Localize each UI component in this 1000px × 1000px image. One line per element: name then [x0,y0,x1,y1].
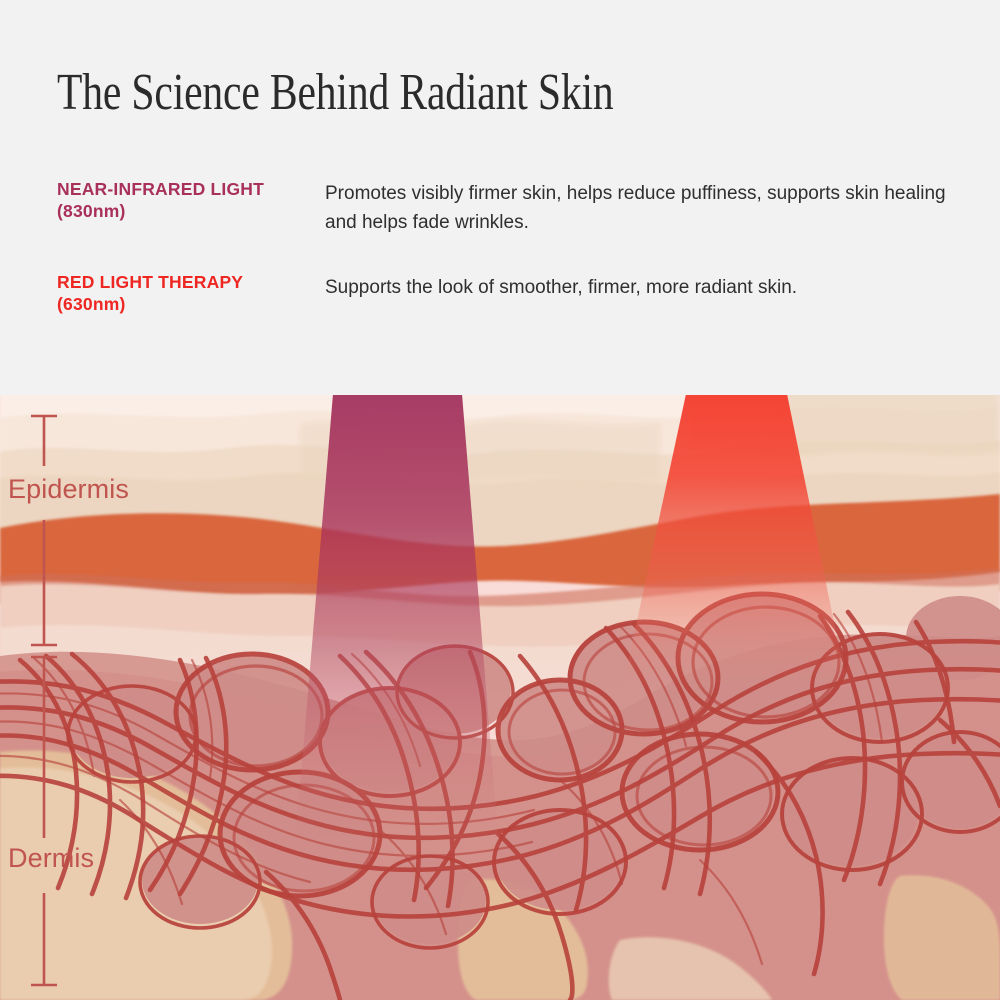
legend-term-near-infrared: NEAR-INFRARED LIGHT (830nm) [57,178,307,222]
legend-term-red-light: RED LIGHT THERAPY (630nm) [57,271,307,315]
page-title: The Science Behind Radiant Skin [57,62,614,124]
legend-item-red-light: RED LIGHT THERAPY (630nm) Supports the l… [57,271,957,302]
infographic-page: Epidermis Dermis The Science Behind Radi… [0,0,1000,1000]
layer-label-dermis: Dermis [8,843,94,874]
legend-item-near-infrared: NEAR-INFRARED LIGHT (830nm) Promotes vis… [57,178,957,237]
legend-description-red-light: Supports the look of smoother, firmer, m… [325,271,957,302]
legend-list: NEAR-INFRARED LIGHT (830nm) Promotes vis… [57,178,957,324]
layer-label-epidermis: Epidermis [8,474,129,505]
skin-cross-section-illustration [0,360,1000,1000]
legend-description-near-infrared: Promotes visibly firmer skin, helps redu… [325,178,957,237]
header-panel: The Science Behind Radiant Skin NEAR-INF… [0,0,1000,395]
